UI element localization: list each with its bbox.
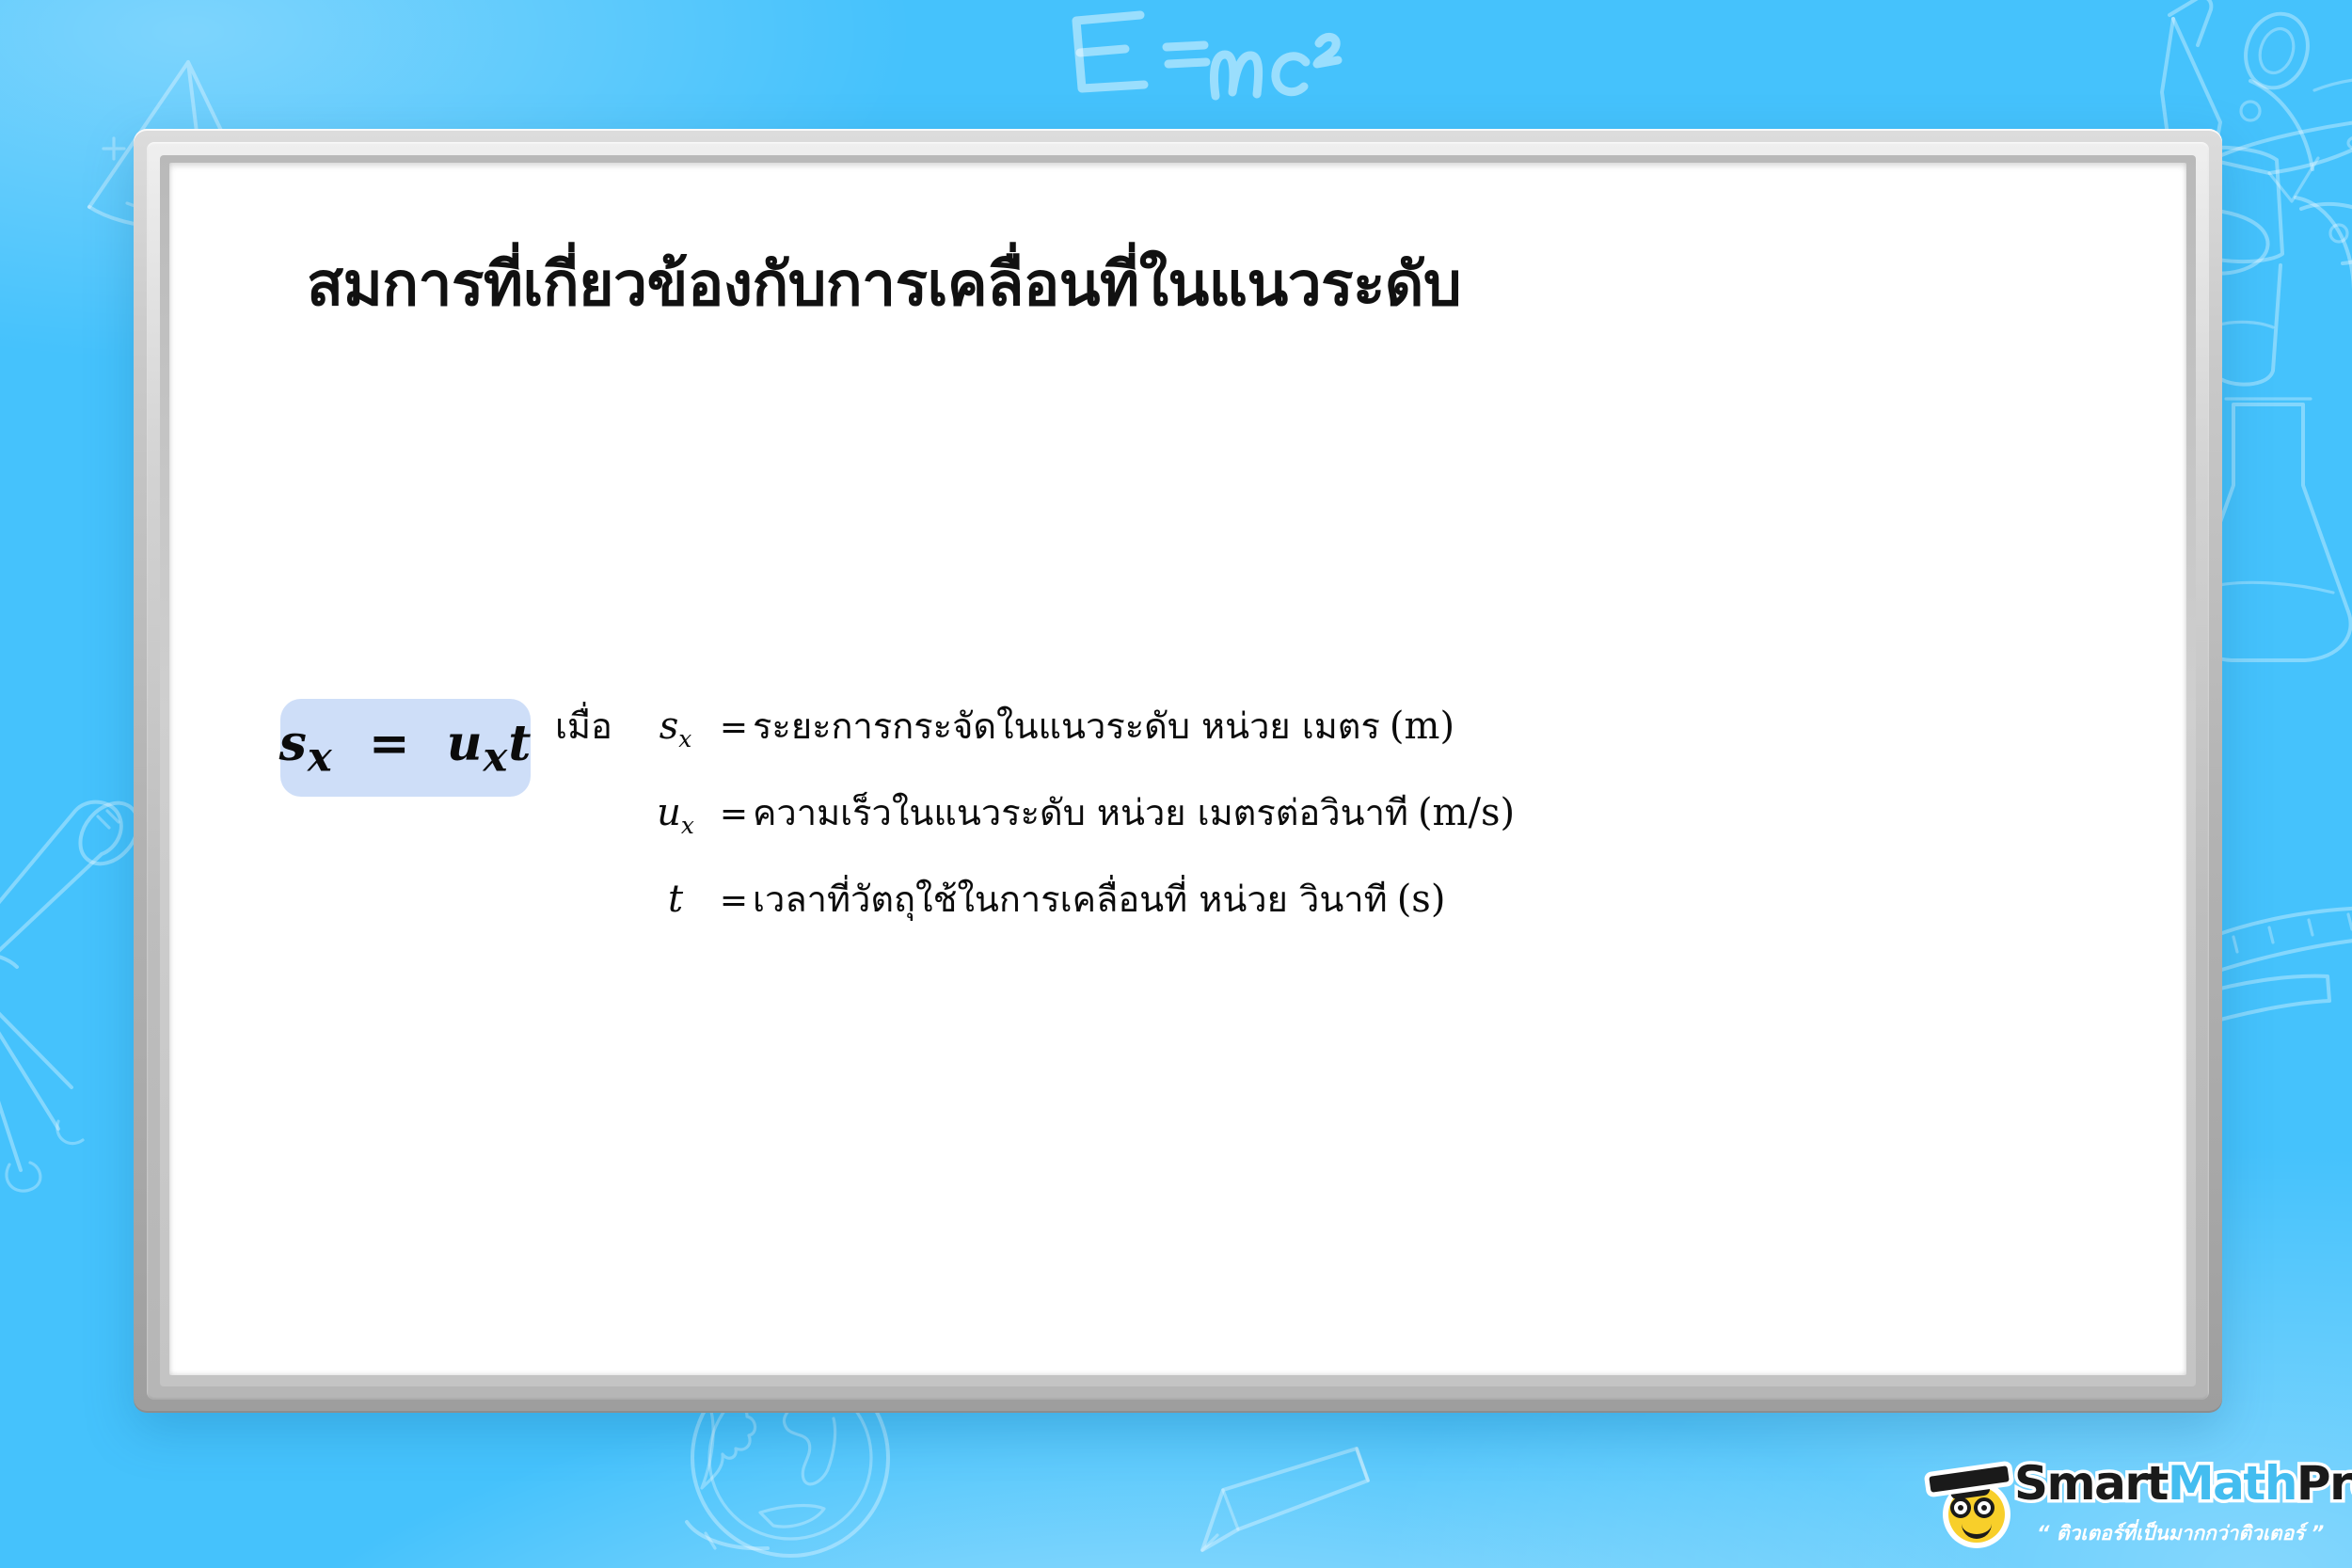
emc2-doodle [1054,6,1364,119]
definition-prefix: เมื่อ [555,697,636,754]
graduation-cap-icon [1930,1465,2009,1494]
paper-plane-doodle [2201,56,2352,207]
brand-wordmark: SmartMathPro [2014,1460,2352,1507]
definition-symbol: ux [636,791,715,839]
smile-icon [1962,1520,1992,1539]
definition-symbol: sx [636,705,715,752]
definition-row: t = เวลาที่วัตถุใช้ในการเคลื่อนที่ หน่วย… [555,870,2023,957]
formula-rhs-time: t [508,715,532,772]
brand-logo: SmartMathPro “ ติวเตอร์ที่เป็นมากกว่าติว… [1924,1456,2300,1555]
whiteboard: สมการที่เกี่ยวข้องกับการเคลื่อนที่ในแนวร… [134,129,2222,1413]
eye-left-icon [1950,1497,1971,1518]
definition-row: ux = ความเร็วในแนวระดับ หน่วย เมตรต่อวิน… [555,784,2023,870]
formula-chip: sx = uxt [280,699,531,797]
definition-symbol: t [636,878,715,926]
brand-word-pro: Pro [2296,1456,2352,1511]
formula-rhs-subscript: x [484,733,509,781]
definition-unit: (m) [1380,705,1454,748]
formula-equals: = [369,715,411,772]
definition-equals: = [715,795,753,833]
pencil-doodle [1185,1430,1411,1568]
brand-word-smart: Smart [2014,1456,2168,1511]
definition-unit: (m/s) [1408,791,1515,834]
definition-text: ระยะการกระจัดในแนวระดับ หน่วย เมตร [753,697,1380,754]
page-title: สมการที่เกี่ยวข้องกับการเคลื่อนที่ในแนวร… [307,250,1461,322]
brand-word-math: Math [2168,1456,2296,1511]
slide-content: สมการที่เกี่ยวข้องกับการเคลื่อนที่ในแนวร… [169,163,2186,1375]
definition-unit: (s) [1388,878,1446,921]
formula-expression: sx = uxt [279,715,532,781]
definition-row: เมื่อ sx = ระยะการกระจัดในแนวระดับ หน่วย… [555,697,2023,784]
graduate-emoji-icon [1924,1464,2022,1544]
formula-lhs-subscript: x [308,733,333,781]
whiteboard-surface: สมการที่เกี่ยวข้องกับการเคลื่อนที่ในแนวร… [169,163,2186,1375]
slide-root: สมการที่เกี่ยวข้องกับการเคลื่อนที่ในแนวร… [0,0,2352,1568]
definition-text: เวลาที่วัตถุใช้ในการเคลื่อนที่ หน่วย วิน… [753,870,1388,927]
formula-lhs-symbol: s [279,715,308,772]
definition-equals: = [715,881,753,920]
eye-right-icon [1974,1497,1994,1518]
definition-text: ความเร็วในแนวระดับ หน่วย เมตรต่อวินาที [753,784,1408,841]
definition-equals: = [715,708,753,747]
brand-tagline: “ ติวเตอร์ที่เป็นมากกว่าติวเตอร์ ” [2037,1518,2324,1549]
definition-list: เมื่อ sx = ระยะการกระจัดในแนวระดับ หน่วย… [555,697,2023,957]
formula-rhs-symbol: u [447,715,484,772]
